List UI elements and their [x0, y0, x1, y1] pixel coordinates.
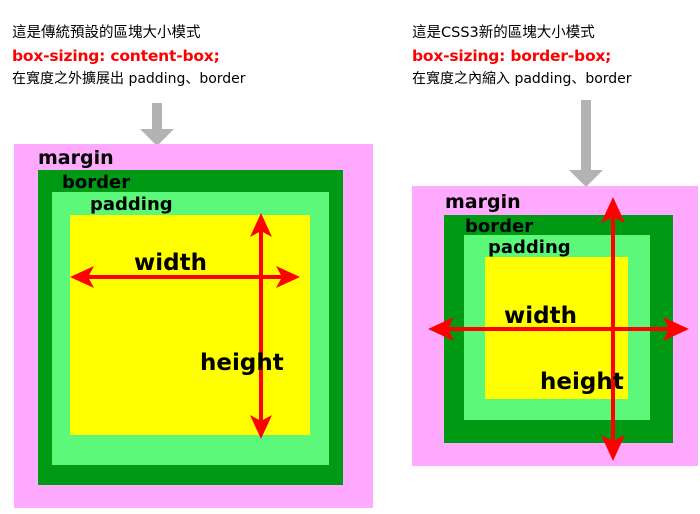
box-model-diagram-border-box: margin border padding width height: [412, 186, 698, 466]
caption-right-line3: 在寬度之內縮入 padding、border: [412, 68, 632, 91]
caption-left-line1: 這是傳統預設的區塊大小模式: [12, 22, 246, 45]
width-label-right: width: [504, 303, 577, 329]
height-label-left: height: [200, 350, 284, 376]
caption-left-code: box-sizing: content-box;: [12, 45, 246, 68]
caption-right-code: box-sizing: border-box;: [412, 45, 632, 68]
caption-right-line1: 這是CSS3新的區塊大小模式: [412, 22, 632, 45]
width-label-left: width: [134, 250, 207, 276]
down-arrow-left-icon: [138, 103, 176, 147]
height-label-right: height: [540, 369, 624, 395]
box-model-diagram-content-box: margin border padding width height: [14, 144, 373, 508]
caption-left-line3: 在寬度之外擴展出 padding、border: [12, 68, 246, 91]
caption-border-box: 這是CSS3新的區塊大小模式 box-sizing: border-box; 在…: [412, 22, 632, 91]
dimension-arrows-left: [14, 144, 373, 508]
down-arrow-right-icon: [567, 100, 605, 188]
caption-content-box: 這是傳統預設的區塊大小模式 box-sizing: content-box; 在…: [12, 22, 246, 91]
